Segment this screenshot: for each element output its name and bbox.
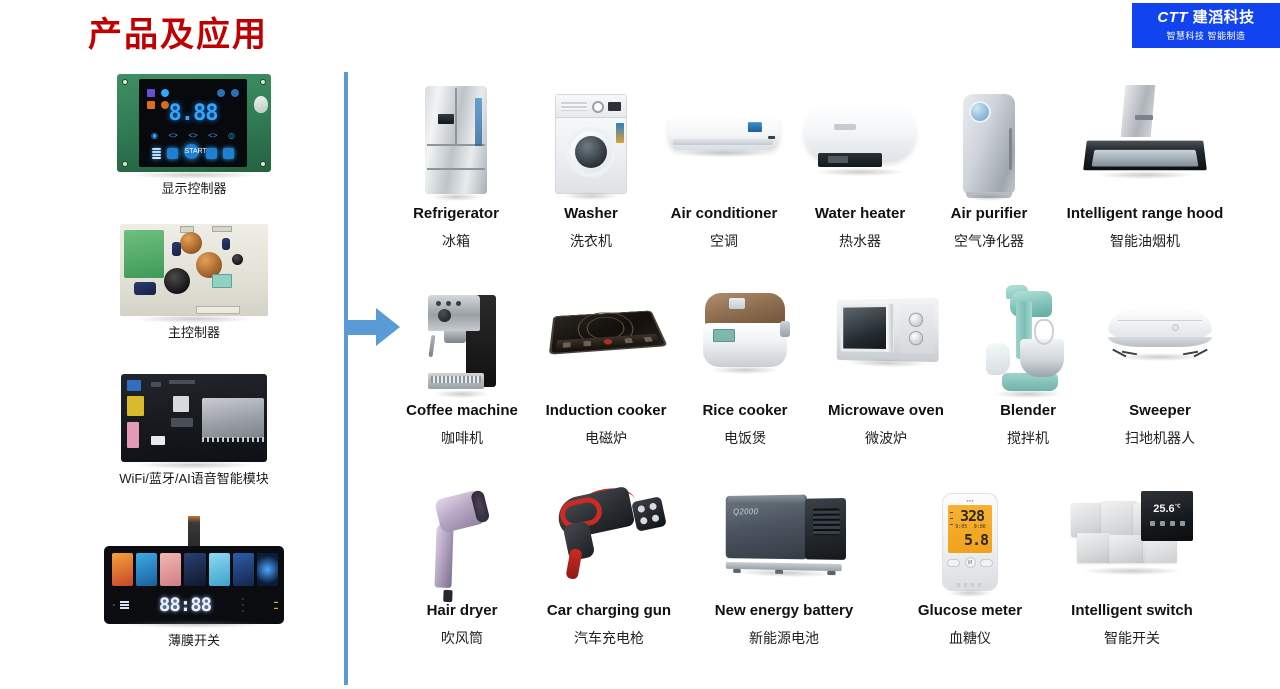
- product-shadow: [1097, 171, 1193, 179]
- product-shadow: [136, 461, 253, 469]
- glucose-timestamps: 9:05 9:06: [952, 524, 989, 530]
- drip-tray: [428, 373, 484, 389]
- slide-root: 产品及应用 CTT 建滔科技 智慧科技 智能制造: [0, 0, 1280, 689]
- wifi-icon: [161, 89, 169, 97]
- application-washer[interactable]: Washer 洗衣机: [526, 72, 656, 272]
- membrane-assembly: ☼ 88:88 ○○○ ▬▬: [104, 542, 284, 624]
- range-hood-icon: [1052, 72, 1238, 194]
- dryer-cord-tip: [443, 590, 452, 602]
- intelligent-switch-icon: 25.6℃: [1052, 469, 1212, 591]
- application-blender[interactable]: Blender 搅拌机: [966, 269, 1090, 469]
- thermostat-temperature: 25.6℃: [1141, 503, 1193, 515]
- mode-icon: [167, 148, 178, 159]
- product-shadow: [1083, 567, 1181, 575]
- microwave-dial: [909, 331, 923, 345]
- memory-button: M: [965, 557, 976, 568]
- application-label-cn: 微波炉: [865, 428, 907, 448]
- air-conditioner-icon: [648, 72, 800, 194]
- display-controller-board: 8.88 ◉ <> <> <> ◎ STA: [117, 74, 271, 172]
- up-button: [947, 559, 960, 567]
- inductor-coil: [180, 232, 202, 254]
- washer-drawer: [561, 102, 587, 111]
- application-label-cn: 智能开关: [1104, 628, 1160, 648]
- tray-grill: [431, 376, 481, 383]
- product-shadow: [122, 620, 266, 628]
- glucose-meter-icon: ●●● ▬▬▬ 328 9:05 9:06 5.8 M: [896, 469, 1044, 591]
- heater-control-panel: [818, 153, 882, 167]
- applications-grid: Refrigerator 冰箱 Washer 洗衣机: [362, 72, 1280, 685]
- application-label-en: Intelligent switch: [1071, 602, 1193, 619]
- car-charging-gun-icon: [524, 469, 694, 591]
- application-label-en: Intelligent range hood: [1067, 205, 1224, 222]
- yellow-connector: [127, 396, 144, 416]
- product-shadow: [711, 366, 778, 374]
- washer-knob: [592, 101, 604, 113]
- application-label-cn: 新能源电池: [749, 628, 819, 648]
- logo-latin: CTT: [1157, 9, 1188, 26]
- application-induction-cooker[interactable]: Induction cooker 电磁炉: [528, 269, 684, 469]
- washer-display: [608, 102, 621, 111]
- hood-chimney: [1121, 85, 1156, 137]
- control-key: [644, 336, 653, 341]
- heater-display: [828, 156, 848, 163]
- product-shadow: [435, 390, 489, 398]
- coffee-group-head: [444, 331, 466, 343]
- microwave-oven-icon: [806, 269, 966, 391]
- membrane-bottom-row: ☼ 88:88 ○○○ ▬▬: [112, 591, 278, 619]
- product-shadow: [132, 171, 255, 179]
- product-shadow: [135, 315, 253, 323]
- down-button: [980, 559, 993, 567]
- product-shadow: [994, 390, 1061, 398]
- membrane-status-text: ▬▬: [274, 599, 278, 612]
- robot-vacuum-icon: [1098, 269, 1222, 391]
- minus-icon: ◉: [151, 131, 158, 140]
- fridge-body: [425, 86, 487, 194]
- membrane-icon-tiles: [112, 553, 278, 586]
- fridge-accent: [475, 98, 482, 146]
- application-label-en: Blender: [1000, 402, 1056, 419]
- rice-cooker-icon: [684, 269, 806, 391]
- capacitor: [222, 238, 230, 250]
- heater-brand: [834, 124, 856, 130]
- battery-model-label: Q2000: [733, 507, 758, 516]
- application-label-en: Sweeper: [1129, 402, 1191, 419]
- capacitor: [134, 282, 156, 295]
- microwave-control-panel: [900, 304, 935, 354]
- sweeper-seam: [1118, 320, 1202, 321]
- component-wifi-module: WiFi/蓝牙/AI语音智能模块: [60, 374, 328, 487]
- timer-icon: [217, 89, 225, 97]
- application-label-en: Washer: [564, 205, 618, 222]
- washing-machine-icon: [526, 72, 656, 194]
- energy-battery-icon: Q2000: [694, 469, 874, 591]
- tile-icon: [209, 553, 230, 586]
- ac-indicator: [768, 136, 775, 139]
- vertical-divider: [344, 72, 348, 685]
- battery-body: Q2000: [726, 494, 846, 566]
- application-label-en: Hair dryer: [427, 602, 498, 619]
- tile-icon: [257, 553, 278, 586]
- usb-connector: [127, 380, 141, 391]
- glucose-time-left: 9:05: [955, 524, 967, 530]
- application-rice-cooker[interactable]: Rice cooker 电饭煲: [684, 269, 806, 469]
- switch-panel: [1109, 535, 1145, 563]
- washer-drum: [575, 136, 607, 168]
- application-label-cn: 电磁炉: [585, 428, 627, 448]
- coffee-buttons: [436, 301, 461, 306]
- gun-connector: [631, 496, 667, 532]
- glucose-time-right: 9:06: [974, 524, 986, 530]
- lcd-badge-icon: [147, 101, 155, 109]
- component-chip: [169, 380, 195, 384]
- application-label-en: Coffee machine: [406, 402, 518, 419]
- application-label-cn: 洗衣机: [570, 231, 612, 251]
- component-chip: [151, 382, 161, 387]
- heater-body: [804, 104, 916, 162]
- application-label-cn: 血糖仪: [949, 628, 991, 648]
- product-shadow: [948, 589, 991, 597]
- application-label-en: Microwave oven: [828, 402, 944, 419]
- sweeper-top: [1108, 307, 1212, 341]
- glucose-screen: ▬▬▬ 328 9:05 9:06 5.8: [948, 505, 992, 553]
- application-label-en: Refrigerator: [413, 205, 499, 222]
- thermostat-icons: [1141, 521, 1193, 526]
- hood-brand: [1135, 115, 1153, 120]
- energy-label: [748, 122, 762, 132]
- application-glucose-meter[interactable]: ●●● ▬▬▬ 328 9:05 9:06 5.8 M: [896, 469, 1044, 669]
- application-label-en: Induction cooker: [546, 402, 667, 419]
- black-pcb: [121, 374, 267, 462]
- pcb-hole: [122, 79, 128, 85]
- induction-body: [551, 312, 665, 353]
- application-refrigerator[interactable]: Refrigerator 冰箱: [386, 72, 526, 272]
- lcd-segment-value: 8.88: [169, 101, 218, 126]
- application-microwave-oven[interactable]: Microwave oven 微波炉: [806, 269, 966, 469]
- application-label-cn: 空调: [710, 231, 738, 251]
- company-logo: CTT 建滔科技 智慧科技 智能制造: [1132, 3, 1280, 48]
- power-key: [603, 339, 612, 345]
- clock-icon: [231, 89, 239, 97]
- switch-panel: [1071, 503, 1105, 537]
- hood-glass: [1092, 150, 1199, 167]
- lcd-button-row: START: [149, 144, 237, 159]
- application-label-cn: 汽车充电枪: [574, 628, 644, 648]
- rice-handle: [780, 321, 790, 337]
- switch-panel-group: 25.6℃: [1071, 491, 1193, 569]
- logo-chinese: 建滔科技: [1193, 9, 1255, 26]
- rice-body: [703, 293, 787, 367]
- membrane-side-text: ☼: [112, 602, 116, 608]
- micro-usb-connector: [151, 436, 165, 445]
- microwave-dial: [909, 313, 923, 327]
- logo-brand-text: CTT 建滔科技: [1157, 10, 1254, 27]
- membrane-clock-value: 88:88: [159, 594, 211, 616]
- control-key: [624, 338, 633, 343]
- application-label-cn: 咖啡机: [441, 428, 483, 448]
- gun-body: [552, 483, 666, 577]
- buzzer: [164, 268, 190, 294]
- application-water-heater[interactable]: Water heater 热水器: [790, 72, 930, 272]
- component-label: 薄膜开关: [168, 630, 220, 649]
- logo-tagline: 智慧科技 智能制造: [1166, 29, 1245, 42]
- plus-icon: ◎: [228, 131, 235, 140]
- application-label-cn: 搅拌机: [1007, 428, 1049, 448]
- rice-lid-button: [729, 298, 745, 309]
- page-title: 产品及应用: [88, 7, 268, 56]
- membrane-face: ☼ 88:88 ○○○ ▬▬: [104, 546, 284, 624]
- pcb-hole: [122, 161, 128, 167]
- application-new-energy-battery[interactable]: Q2000 New energy battery 新能源电池: [694, 469, 874, 669]
- tile-icon: [112, 553, 133, 586]
- application-intelligent-switch[interactable]: 25.6℃ Intelligent switch 智能开关: [1052, 469, 1212, 669]
- power-start-button: START: [184, 144, 199, 159]
- beater-attachment-icon: [986, 343, 1010, 375]
- ac-vent: [673, 139, 774, 145]
- switch-panel: [1077, 533, 1111, 563]
- washer-body: [555, 94, 627, 194]
- control-key: [583, 340, 591, 345]
- membrane-side-text: ○○○: [241, 596, 243, 614]
- hair-dryer-icon: [400, 469, 524, 591]
- battery-vent: [813, 508, 840, 535]
- purifier-sensor-dial: [969, 101, 991, 123]
- level-bars-icon: [152, 148, 161, 159]
- glucose-brand: ●●●: [943, 498, 997, 503]
- product-shadow: [431, 193, 481, 201]
- rice-lid: [705, 293, 785, 327]
- refrigerator-icon: [386, 72, 526, 194]
- application-car-charging-gun[interactable]: Car charging gun 汽车充电枪: [524, 469, 694, 669]
- rice-display: [713, 329, 735, 342]
- application-label-cn: 热水器: [839, 231, 881, 251]
- applications-row: Coffee machine 咖啡机: [362, 269, 1280, 469]
- pcb-hole: [260, 161, 266, 167]
- microwave-body: [837, 298, 939, 362]
- control-key: [563, 342, 571, 348]
- induction-cooker-icon: [528, 269, 684, 391]
- tile-icon: [233, 553, 254, 586]
- hand-icon: [206, 148, 217, 159]
- battery-top: [728, 495, 805, 505]
- product-shadow: [563, 192, 619, 200]
- basket-icon: [223, 148, 234, 159]
- application-label-cn: 智能油烟机: [1110, 231, 1180, 251]
- daughter-board: [124, 230, 164, 278]
- application-label-cn: 吹风筒: [441, 628, 483, 648]
- glucose-reading-bottom: 5.8: [964, 531, 988, 549]
- main-controller-board: [120, 224, 268, 316]
- pcb-hole: [260, 79, 266, 85]
- component-main-controller: 主控制器: [60, 224, 328, 341]
- hood-body: [1085, 85, 1205, 181]
- application-coffee-machine[interactable]: Coffee machine 咖啡机: [396, 269, 528, 469]
- application-air-conditioner[interactable]: Air conditioner 空调: [648, 72, 800, 272]
- level-bars-icon: [120, 601, 129, 609]
- application-label-cn: 空气净化器: [954, 231, 1024, 251]
- component-label: WiFi/蓝牙/AI语音智能模块: [119, 468, 269, 487]
- sweeper-body: [1108, 307, 1212, 353]
- applications-row: Refrigerator 冰箱 Washer 洗衣机: [362, 72, 1280, 272]
- water-heater-icon: [790, 72, 930, 194]
- pin-header: [196, 306, 240, 314]
- pink-connector: [127, 422, 139, 448]
- component-chip: [173, 396, 189, 412]
- component-display-controller: 8.88 ◉ <> <> <> ◎ STA: [60, 74, 328, 197]
- application-label-en: Air purifier: [951, 205, 1028, 222]
- product-shadow: [679, 149, 770, 157]
- coffee-head: [428, 295, 480, 331]
- application-label-en: Air conditioner: [671, 205, 778, 222]
- bulb-icon: [254, 96, 268, 113]
- application-sweeper[interactable]: Sweeper 扫地机器人: [1098, 269, 1222, 469]
- whisk-attachment-icon: [1034, 319, 1054, 345]
- components-column: 8.88 ◉ <> <> <> ◎ STA: [60, 72, 328, 685]
- wifi-bluetooth-ai-module-board: [121, 374, 267, 462]
- component-membrane-switch: ☼ 88:88 ○○○ ▬▬ 薄膜开关: [60, 542, 328, 649]
- application-label-en: Water heater: [815, 205, 905, 222]
- applications-row: Hair dryer 吹风筒: [362, 469, 1280, 669]
- green-pcb: 8.88 ◉ <> <> <> ◎ STA: [117, 74, 271, 172]
- flex-cable-tail: [188, 516, 200, 546]
- rf-shield-can: [202, 398, 264, 438]
- application-label-en: Rice cooker: [702, 402, 787, 419]
- application-air-purifier[interactable]: Air purifier 空气净化器: [924, 72, 1054, 272]
- product-shadow: [1118, 353, 1201, 361]
- light-pcb: [120, 224, 268, 316]
- microwave-handle: [886, 304, 893, 352]
- glucose-buttons: M: [947, 557, 993, 568]
- coffee-body: [428, 291, 496, 391]
- lcd-badge-icon: [147, 89, 155, 97]
- coffee-knob: [438, 309, 451, 322]
- purifier-vent: [1009, 128, 1012, 170]
- blender-body: [986, 285, 1070, 391]
- chevron-icon: <>: [168, 131, 177, 140]
- application-label-cn: 冰箱: [442, 231, 470, 251]
- component-label: 主控制器: [168, 322, 220, 341]
- component-label: 显示控制器: [161, 178, 226, 197]
- steam-wand: [428, 335, 435, 357]
- lcd-nav-row: ◉ <> <> <> ◎: [151, 131, 235, 140]
- product-shadow: [815, 168, 905, 176]
- temp-value: 25.6: [1153, 503, 1174, 515]
- tile-icon: [160, 553, 181, 586]
- application-label-cn: 扫地机器人: [1125, 428, 1195, 448]
- lcd-screen: 8.88 ◉ <> <> <> ◎ STA: [139, 79, 247, 167]
- application-label-en: Car charging gun: [547, 602, 671, 619]
- thermostat-panel: 25.6℃: [1141, 491, 1193, 541]
- dryer-handle: [434, 523, 453, 588]
- test-strip-port: [957, 583, 985, 587]
- fridge-display: [438, 114, 454, 124]
- glucose-reading-top: 328: [960, 507, 984, 525]
- sweeper-bumper: [1108, 337, 1212, 347]
- fridge-divider: [427, 168, 485, 170]
- purifier-body: [963, 94, 1015, 194]
- lcd-chip: [212, 274, 232, 288]
- chevron-icon: <>: [188, 131, 197, 140]
- product-shadow: [968, 193, 1010, 201]
- ac-body: [668, 116, 781, 150]
- glucose-body: ●●● ▬▬▬ 328 9:05 9:06 5.8 M: [942, 493, 998, 591]
- energy-label: [616, 123, 624, 143]
- component-chip: [212, 226, 232, 232]
- tile-icon: [184, 553, 205, 586]
- dryer-body: [418, 488, 505, 597]
- sweeper-button: [1172, 324, 1179, 331]
- washer-door: [566, 127, 616, 177]
- coffee-machine-icon: [396, 269, 528, 391]
- fridge-door-split: [455, 88, 457, 144]
- application-label-en: New energy battery: [715, 602, 853, 619]
- application-label-en: Glucose meter: [918, 602, 1022, 619]
- air-purifier-icon: [924, 72, 1054, 194]
- component-chip: [232, 254, 243, 265]
- component-chip: [171, 418, 193, 427]
- application-label-cn: 电饭煲: [724, 428, 766, 448]
- application-range-hood[interactable]: Intelligent range hood 智能油烟机: [1052, 72, 1238, 272]
- membrane-switch-panel: ☼ 88:88 ○○○ ▬▬: [104, 542, 284, 624]
- blender-icon: [966, 269, 1090, 391]
- chevron-icon: <>: [208, 131, 217, 140]
- capacitor: [172, 242, 181, 256]
- shield-pins: [202, 437, 264, 442]
- tile-icon: [136, 553, 157, 586]
- application-hair-dryer[interactable]: Hair dryer 吹风筒: [400, 469, 524, 669]
